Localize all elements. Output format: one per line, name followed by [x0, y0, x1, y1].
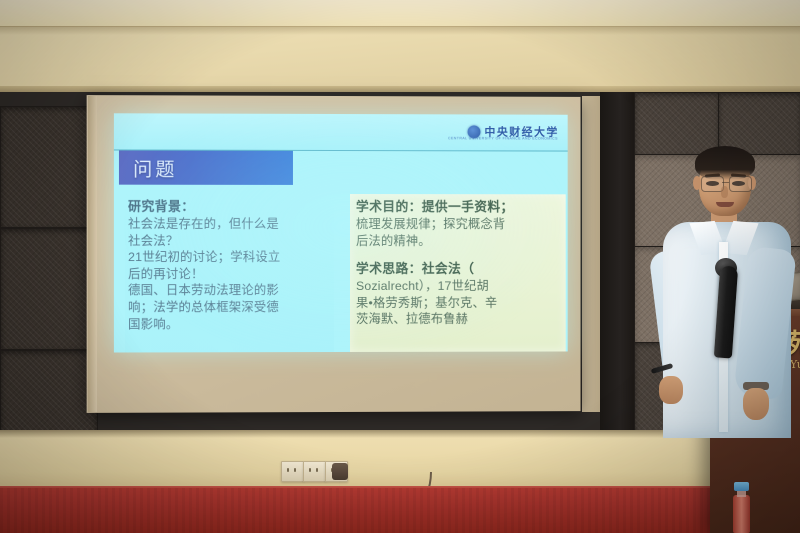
right-column-line: 茨海默、拉德布鲁赫 [356, 311, 560, 328]
right-column-line: 梳理发展规律；探究概念背 [356, 216, 560, 233]
presenter-right-hand [743, 388, 769, 420]
presenter [655, 138, 800, 438]
right-column-line: 后法的精神。 [356, 233, 560, 250]
wall-panel [0, 228, 98, 350]
presentation-slide: 中央财经大学 CENTRAL UNIVERSITY OF FINANCE AND… [114, 113, 568, 352]
right-column-line: 果•格劳秀斯；基尔克、辛 [356, 295, 560, 312]
left-column-heading: 研究背景： [128, 198, 331, 215]
left-column-line: 国影响。 [128, 316, 331, 333]
left-column-line: 21世纪初的讨论；学科设立 [128, 249, 331, 266]
ceiling-beam [0, 0, 800, 27]
glasses-lens-right [729, 176, 752, 192]
wall-panel [0, 106, 98, 228]
left-column-line: 后的再讨论！ [128, 266, 331, 283]
presenter-nose [721, 186, 728, 198]
slide-right-column: 学术目的：提供一手资料； 梳理发展规律；探究概念背 后法的精神。 学术思路：社会… [350, 194, 566, 352]
red-carpet [0, 488, 800, 533]
glasses-bridge [722, 182, 729, 183]
left-column-line: 社会法？ [128, 232, 331, 249]
left-column-line: 社会法是存在的，但什么是 [128, 216, 331, 233]
right-column-line: Sozialrecht），17世纪胡 [356, 278, 560, 295]
left-column-line: 德国、日本劳动法理论的影 [128, 282, 331, 299]
paragraph-gap [356, 249, 560, 260]
ceiling-shadow [0, 26, 800, 35]
left-column-line: 响；法学的总体框架深受德 [128, 299, 331, 316]
university-name-english: CENTRAL UNIVERSITY OF FINANCE AND ECONOM… [448, 136, 558, 140]
presenter-mouth [716, 202, 734, 207]
presenter-left-hand [659, 376, 683, 404]
wall-pillar [600, 92, 634, 447]
screen-left-edge [88, 96, 97, 412]
projection-screen: 中央财经大学 CENTRAL UNIVERSITY OF FINANCE AND… [87, 95, 581, 413]
right-column-heading-purpose: 学术目的：提供一手资料； [356, 198, 560, 215]
water-bottle [733, 495, 750, 533]
lecture-hall-photo: 中央财经大学 CENTRAL UNIVERSITY OF FINANCE AND… [0, 0, 800, 533]
right-column-heading-approach: 学术思路：社会法（ [356, 260, 560, 277]
wall-strip [582, 96, 602, 412]
water-bottle-cap [734, 482, 749, 491]
slide-title-bar: 问题 [119, 150, 293, 184]
slide-header: 中央财经大学 CENTRAL UNIVERSITY OF FINANCE AND… [114, 113, 568, 151]
slide-title: 问题 [119, 154, 178, 181]
slide-left-column: 研究背景： 社会法是存在的，但什么是 社会法？ 21世纪初的讨论；学科设立 后的… [125, 194, 334, 353]
